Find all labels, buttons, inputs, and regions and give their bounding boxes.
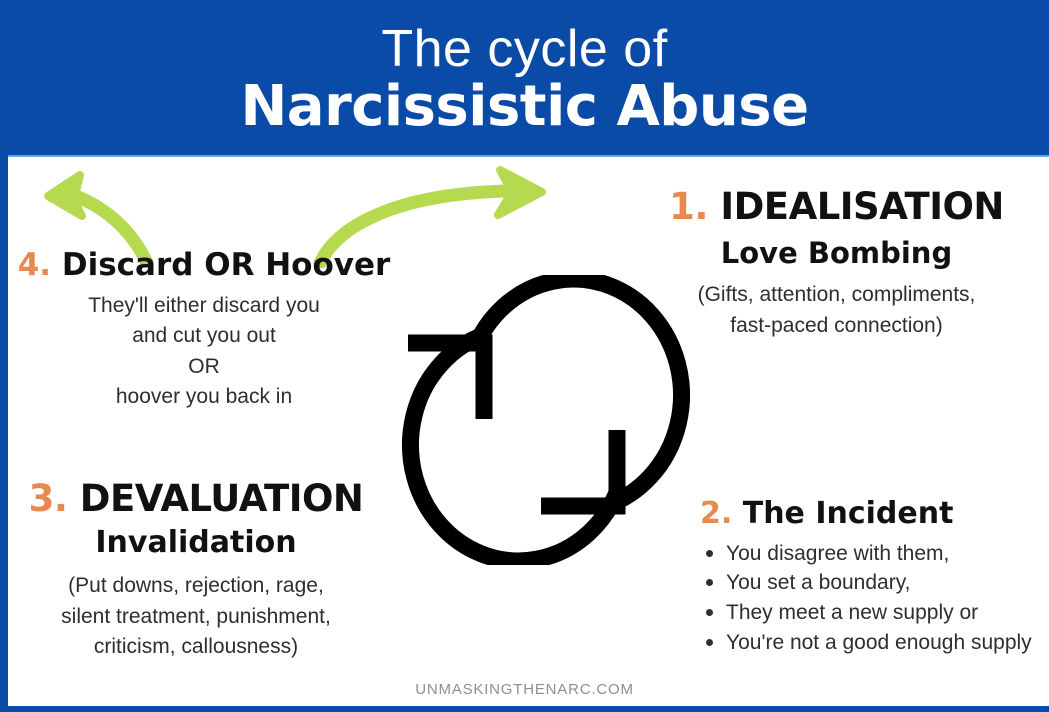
stage-devaluation-title: DEVALUATION: [80, 477, 364, 520]
stage-idealisation-number: 1.: [669, 185, 708, 228]
stage-incident-title: The Incident: [743, 496, 954, 531]
detail-line: They'll either discard you: [8, 291, 400, 321]
frame-top-hairline: [0, 155, 1049, 157]
detail-line: (Gifts, attention, compliments,: [624, 280, 1049, 310]
stage-discard-number: 4.: [18, 247, 51, 283]
stage-devaluation: 3. DEVALUATION Invalidation (Put downs, …: [8, 478, 384, 663]
detail-line: hoover you back in: [8, 382, 400, 412]
detail-line: OR: [8, 352, 400, 382]
stage-devaluation-heading: 3. DEVALUATION: [8, 478, 384, 519]
stage-discard-heading: 4. Discard OR Hoover: [8, 248, 400, 283]
stage-devaluation-subtitle: Invalidation: [8, 525, 384, 561]
stage-incident-bullet-list: You disagree with them, You set a bounda…: [700, 539, 1049, 658]
infographic-root: The cycle of Narcissistic Abuse: [0, 0, 1049, 712]
stage-idealisation-subtitle: Love Bombing: [624, 236, 1049, 271]
stage-idealisation-detail: (Gifts, attention, compliments, fast-pac…: [624, 280, 1049, 341]
stage-devaluation-detail: (Put downs, rejection, rage, silent trea…: [8, 571, 384, 662]
stage-idealisation-heading: 1. IDEALISATION: [624, 186, 1049, 227]
stage-idealisation-title: IDEALISATION: [720, 185, 1004, 228]
frame-bottom-border: [0, 706, 1049, 712]
header-banner: The cycle of Narcissistic Abuse: [0, 0, 1049, 155]
detail-line: and cut you out: [8, 321, 400, 351]
stage-idealisation: 1. IDEALISATION Love Bombing (Gifts, att…: [624, 186, 1049, 341]
header-title: Narcissistic Abuse: [240, 78, 808, 137]
frame-left-border: [0, 155, 8, 712]
stage-discard-detail: They'll either discard you and cut you o…: [8, 291, 400, 413]
list-item: They meet a new supply or: [700, 598, 1049, 628]
list-item: You disagree with them,: [700, 539, 1049, 569]
stage-incident-number: 2.: [700, 496, 732, 531]
stage-incident-heading: 2. The Incident: [700, 497, 1049, 531]
footer-site-url: UNMASKINGTHENARC.COM: [0, 681, 1049, 698]
list-item: You're not a good enough supply: [700, 628, 1049, 658]
detail-line: (Put downs, rejection, rage,: [8, 571, 384, 601]
stage-devaluation-number: 3.: [29, 477, 68, 520]
list-item: You set a boundary,: [700, 568, 1049, 598]
detail-line: silent treatment, punishment,: [8, 602, 384, 632]
detail-line: criticism, callousness): [8, 632, 384, 662]
header-subtitle: The cycle of: [381, 23, 667, 76]
stage-discard-title: Discard OR Hoover: [62, 247, 390, 283]
detail-line: fast-paced connection): [624, 311, 1049, 341]
stage-incident: 2. The Incident You disagree with them, …: [700, 497, 1049, 658]
stage-discard: 4. Discard OR Hoover They'll either disc…: [8, 248, 400, 412]
